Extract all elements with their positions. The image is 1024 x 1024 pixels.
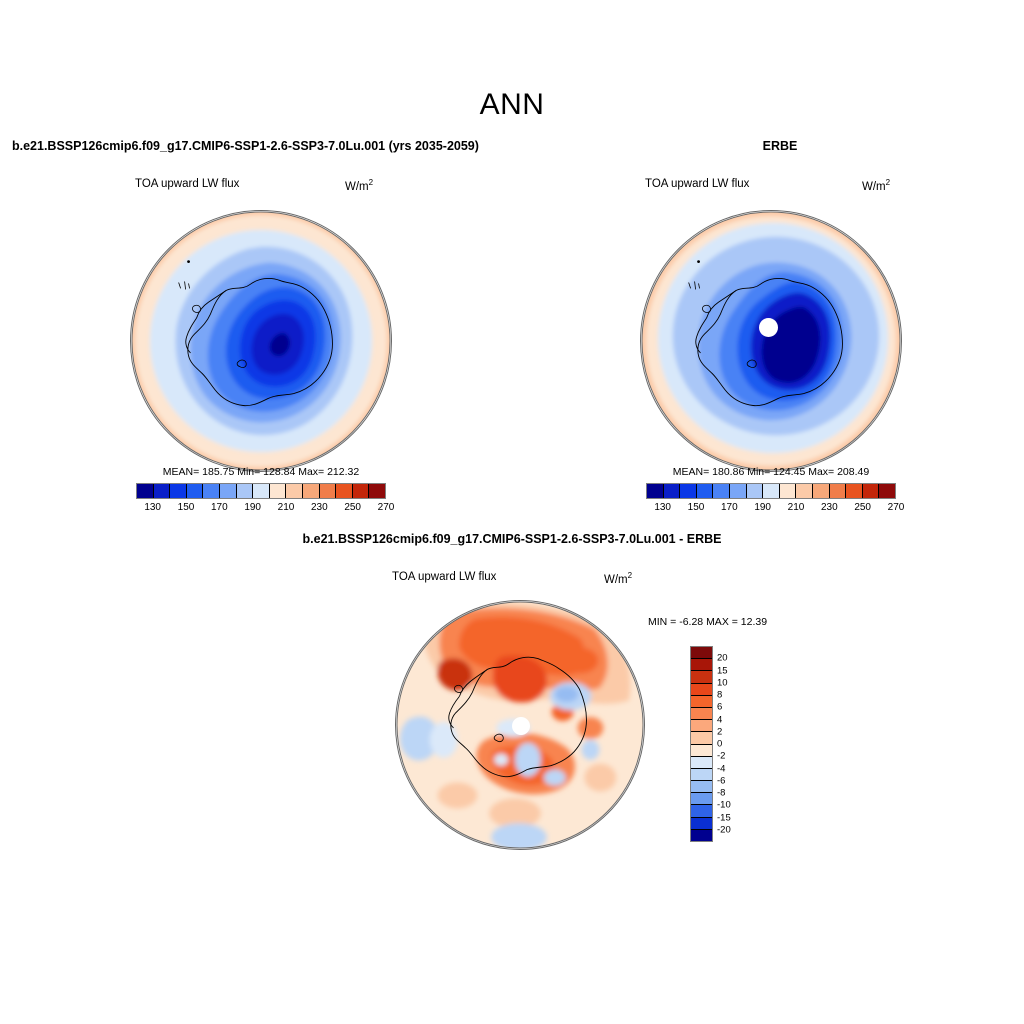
- colorbar-swatch: [286, 484, 303, 498]
- colorbar-tick-label: 250: [344, 502, 361, 513]
- colorbar-swatch: [763, 484, 780, 498]
- colorbar-tick-label: 250: [854, 502, 871, 513]
- diff-unit-exponent: 2: [628, 571, 632, 580]
- colorbar-swatch: [691, 745, 712, 757]
- colorbar-tick-label: 4: [717, 714, 722, 725]
- colorbar-swatch: [691, 671, 712, 683]
- colorbar-swatch: [680, 484, 697, 498]
- colorbar-tick-label: -2: [717, 751, 725, 762]
- colorbar-tick-label: 130: [144, 502, 161, 513]
- colorbar-tick-label: -10: [717, 800, 731, 811]
- colorbar-swatch: [730, 484, 747, 498]
- colorbar-swatch: [336, 484, 353, 498]
- colorbar-swatch: [691, 696, 712, 708]
- colorbar-tick-label: 150: [688, 502, 705, 513]
- colorbar-tick-label: 270: [888, 502, 905, 513]
- obs-unit-label: W/m2: [862, 178, 890, 193]
- diff-polar-map[interactable]: [395, 600, 645, 850]
- colorbar-swatch: [691, 769, 712, 781]
- colorbar-tick-label: 190: [244, 502, 261, 513]
- colorbar-tick-label: 150: [178, 502, 195, 513]
- model-field-label: TOA upward LW flux: [135, 178, 239, 190]
- colorbar-swatch: [237, 484, 254, 498]
- model-unit-base: W/m: [345, 181, 369, 193]
- colorbar-tick-label: -6: [717, 775, 725, 786]
- diff-colorbar-ticks: 20151086420-2-4-6-8-10-15-20: [717, 646, 757, 842]
- colorbar-swatch: [691, 830, 712, 841]
- diff-colorbar[interactable]: [690, 646, 713, 842]
- colorbar-swatch: [691, 757, 712, 769]
- model-stats-line: MEAN= 185.75 Min= 128.84 Max= 212.32: [130, 466, 392, 478]
- colorbar-swatch: [270, 484, 287, 498]
- colorbar-tick-label: -8: [717, 788, 725, 799]
- colorbar-swatch: [780, 484, 797, 498]
- obs-unit-base: W/m: [862, 181, 886, 193]
- colorbar-swatch: [664, 484, 681, 498]
- colorbar-swatch: [154, 484, 171, 498]
- colorbar-swatch: [137, 484, 154, 498]
- colorbar-tick-label: -20: [717, 824, 731, 835]
- colorbar-swatch: [830, 484, 847, 498]
- colorbar-swatch: [369, 484, 385, 498]
- colorbar-swatch: [691, 684, 712, 696]
- diff-unit-base: W/m: [604, 574, 628, 586]
- colorbar-swatch: [187, 484, 204, 498]
- colorbar-swatch: [796, 484, 813, 498]
- diff-panel-title: b.e21.BSSP126cmip6.f09_g17.CMIP6-SSP1-2.…: [0, 532, 1024, 546]
- colorbar-swatch: [203, 484, 220, 498]
- colorbar-tick-label: 20: [717, 653, 728, 664]
- colorbar-swatch: [647, 484, 664, 498]
- colorbar-swatch: [691, 720, 712, 732]
- colorbar-swatch: [691, 781, 712, 793]
- obs-polar-map[interactable]: [640, 210, 902, 472]
- obs-colorbar[interactable]: [646, 483, 896, 499]
- colorbar-swatch: [170, 484, 187, 498]
- colorbar-swatch: [813, 484, 830, 498]
- colorbar-tick-label: 170: [211, 502, 228, 513]
- colorbar-swatch: [691, 793, 712, 805]
- page-title: ANN: [0, 88, 1024, 122]
- colorbar-swatch: [697, 484, 714, 498]
- obs-colorbar-ticks: 130150170190210230250270: [646, 500, 896, 516]
- colorbar-tick-label: 10: [717, 677, 728, 688]
- colorbar-tick-label: 190: [754, 502, 771, 513]
- colorbar-swatch: [691, 647, 712, 659]
- obs-field-label: TOA upward LW flux: [645, 178, 749, 190]
- colorbar-swatch: [846, 484, 863, 498]
- colorbar-tick-label: 8: [717, 690, 722, 701]
- colorbar-tick-label: 230: [311, 502, 328, 513]
- model-map-graphic: [131, 211, 391, 471]
- colorbar-tick-label: 2: [717, 726, 722, 737]
- colorbar-tick-label: 170: [721, 502, 738, 513]
- obs-panel-title: ERBE: [700, 139, 860, 153]
- model-polar-map[interactable]: [130, 210, 392, 472]
- colorbar-swatch: [303, 484, 320, 498]
- colorbar-tick-label: 0: [717, 739, 722, 750]
- colorbar-swatch: [320, 484, 337, 498]
- colorbar-swatch: [691, 818, 712, 830]
- colorbar-tick-label: 230: [821, 502, 838, 513]
- colorbar-swatch: [253, 484, 270, 498]
- colorbar-tick-label: 210: [278, 502, 295, 513]
- obs-pole-data-gap: [759, 318, 778, 337]
- colorbar-swatch: [691, 659, 712, 671]
- model-colorbar-ticks: 130150170190210230250270: [136, 500, 386, 516]
- obs-map-graphic: [641, 211, 901, 471]
- colorbar-tick-label: 270: [378, 502, 395, 513]
- colorbar-tick-label: -4: [717, 763, 725, 774]
- colorbar-swatch: [353, 484, 370, 498]
- colorbar-tick-label: 15: [717, 665, 728, 676]
- diff-unit-label: W/m2: [604, 571, 632, 586]
- obs-stats-line: MEAN= 180.86 Min= 124.45 Max= 208.49: [640, 466, 902, 478]
- colorbar-swatch: [879, 484, 895, 498]
- colorbar-swatch: [863, 484, 880, 498]
- colorbar-tick-label: -15: [717, 812, 731, 823]
- colorbar-tick-label: 210: [788, 502, 805, 513]
- colorbar-swatch: [691, 732, 712, 744]
- diff-minmax-line: MIN = -6.28 MAX = 12.39: [648, 616, 767, 628]
- model-colorbar[interactable]: [136, 483, 386, 499]
- colorbar-tick-label: 130: [654, 502, 671, 513]
- obs-unit-exponent: 2: [886, 178, 890, 187]
- diff-field-label: TOA upward LW flux: [392, 571, 496, 583]
- model-unit-exponent: 2: [369, 178, 373, 187]
- colorbar-swatch: [691, 708, 712, 720]
- diff-pole-data-gap: [512, 717, 530, 735]
- colorbar-swatch: [713, 484, 730, 498]
- colorbar-swatch: [747, 484, 764, 498]
- model-panel-title: b.e21.BSSP126cmip6.f09_g17.CMIP6-SSP1-2.…: [12, 139, 479, 153]
- colorbar-tick-label: 6: [717, 702, 722, 713]
- colorbar-swatch: [220, 484, 237, 498]
- model-unit-label: W/m2: [345, 178, 373, 193]
- colorbar-swatch: [691, 805, 712, 817]
